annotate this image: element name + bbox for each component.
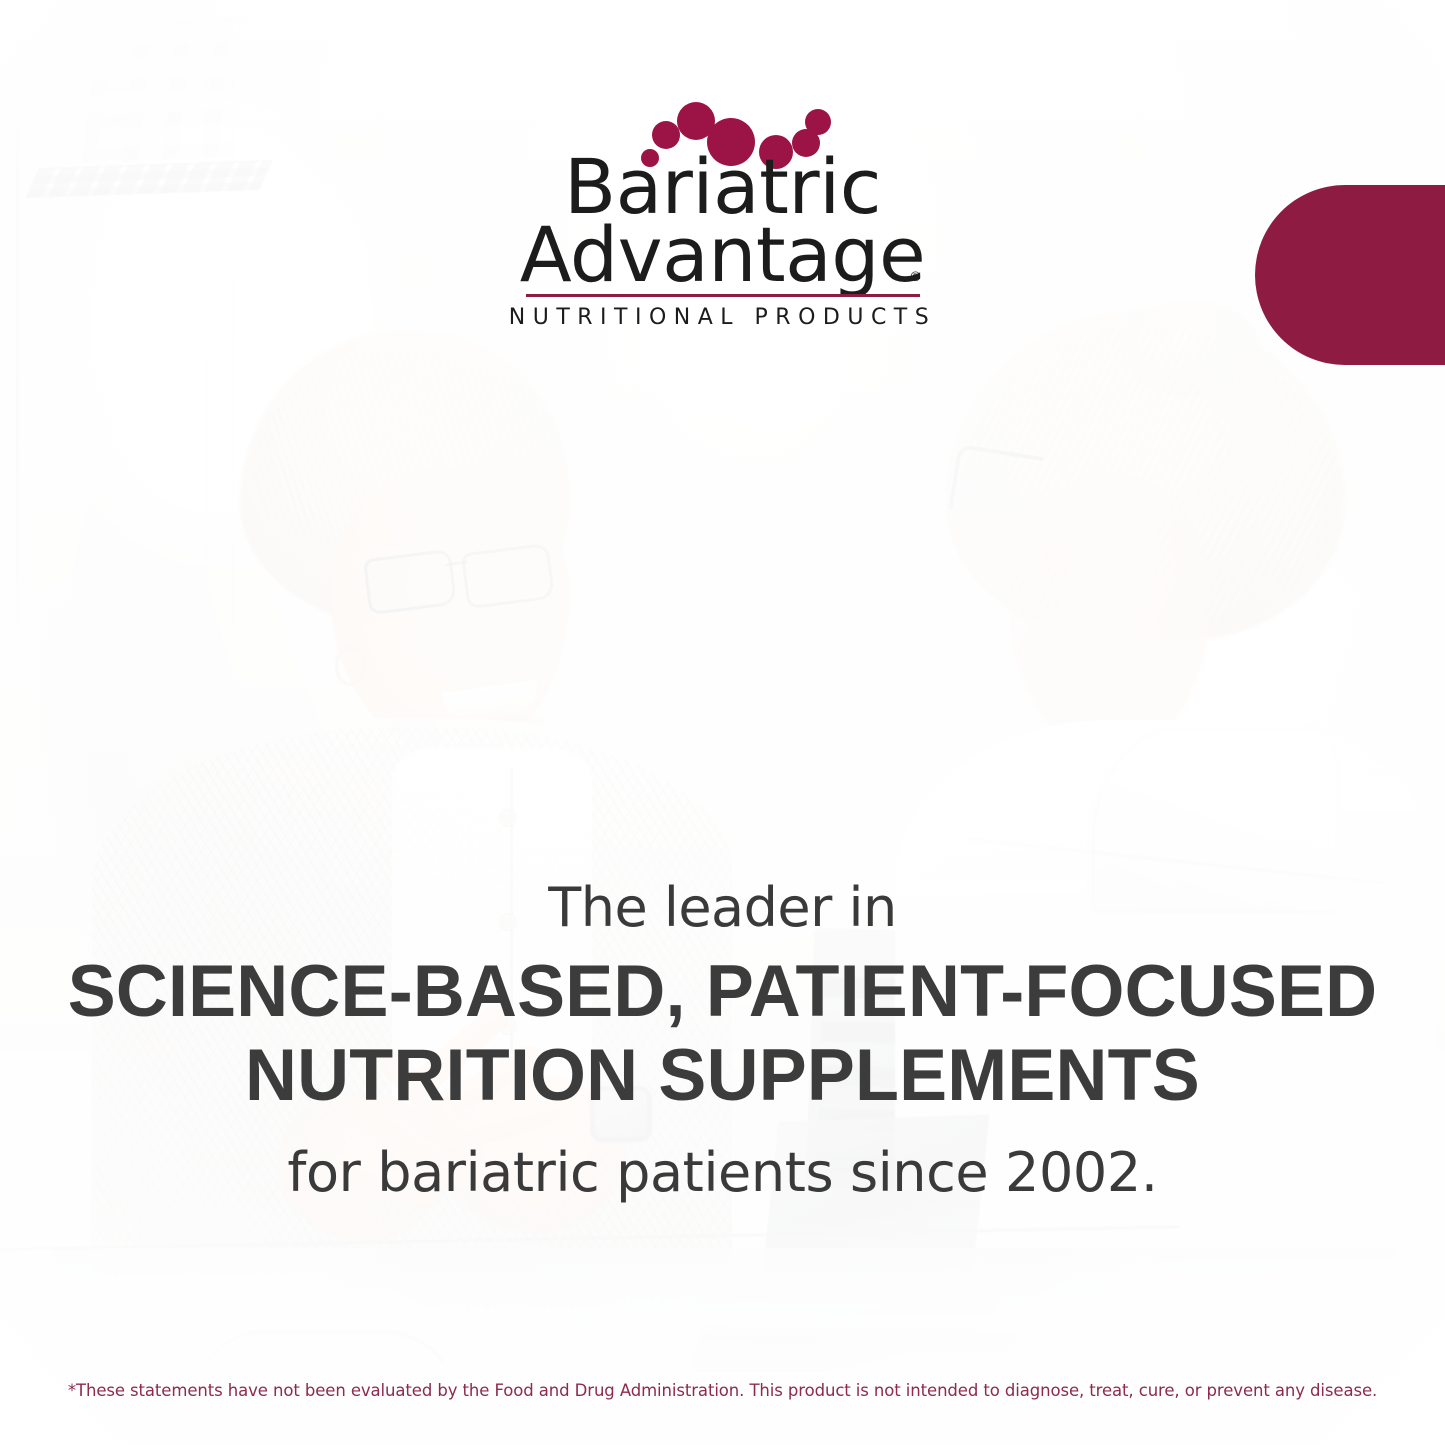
fda-disclaimer: *These statements have not been evaluate…	[0, 1381, 1445, 1400]
hero-text-block: The leader in SCIENCE-BASED, PATIENT-FOC…	[0, 878, 1445, 1202]
logo-wordmark-line2: Advantage	[500, 210, 945, 299]
logo-tagline: NUTRITIONAL PRODUCTS	[500, 305, 945, 330]
hero-headline: SCIENCE-BASED, PATIENT-FOCUSED NUTRITION…	[11, 950, 1434, 1116]
hero-headline-line2: NUTRITION SUPPLEMENTS	[11, 1034, 1434, 1117]
marketing-banner: Bariatric Advantage ® NUTRITIONAL PRODUC…	[0, 0, 1445, 1445]
brand-logo: Bariatric Advantage ® NUTRITIONAL PRODUC…	[500, 100, 945, 340]
accent-corner-tab	[1255, 185, 1445, 365]
hero-headline-line1: SCIENCE-BASED, PATIENT-FOCUSED	[11, 950, 1434, 1033]
logo-dot-7	[805, 109, 831, 135]
hero-kicker: The leader in	[0, 878, 1445, 938]
registered-trademark-icon: ®	[909, 270, 922, 285]
hero-subline: for bariatric patients since 2002.	[0, 1143, 1445, 1202]
logo-underline-rule	[526, 294, 920, 297]
